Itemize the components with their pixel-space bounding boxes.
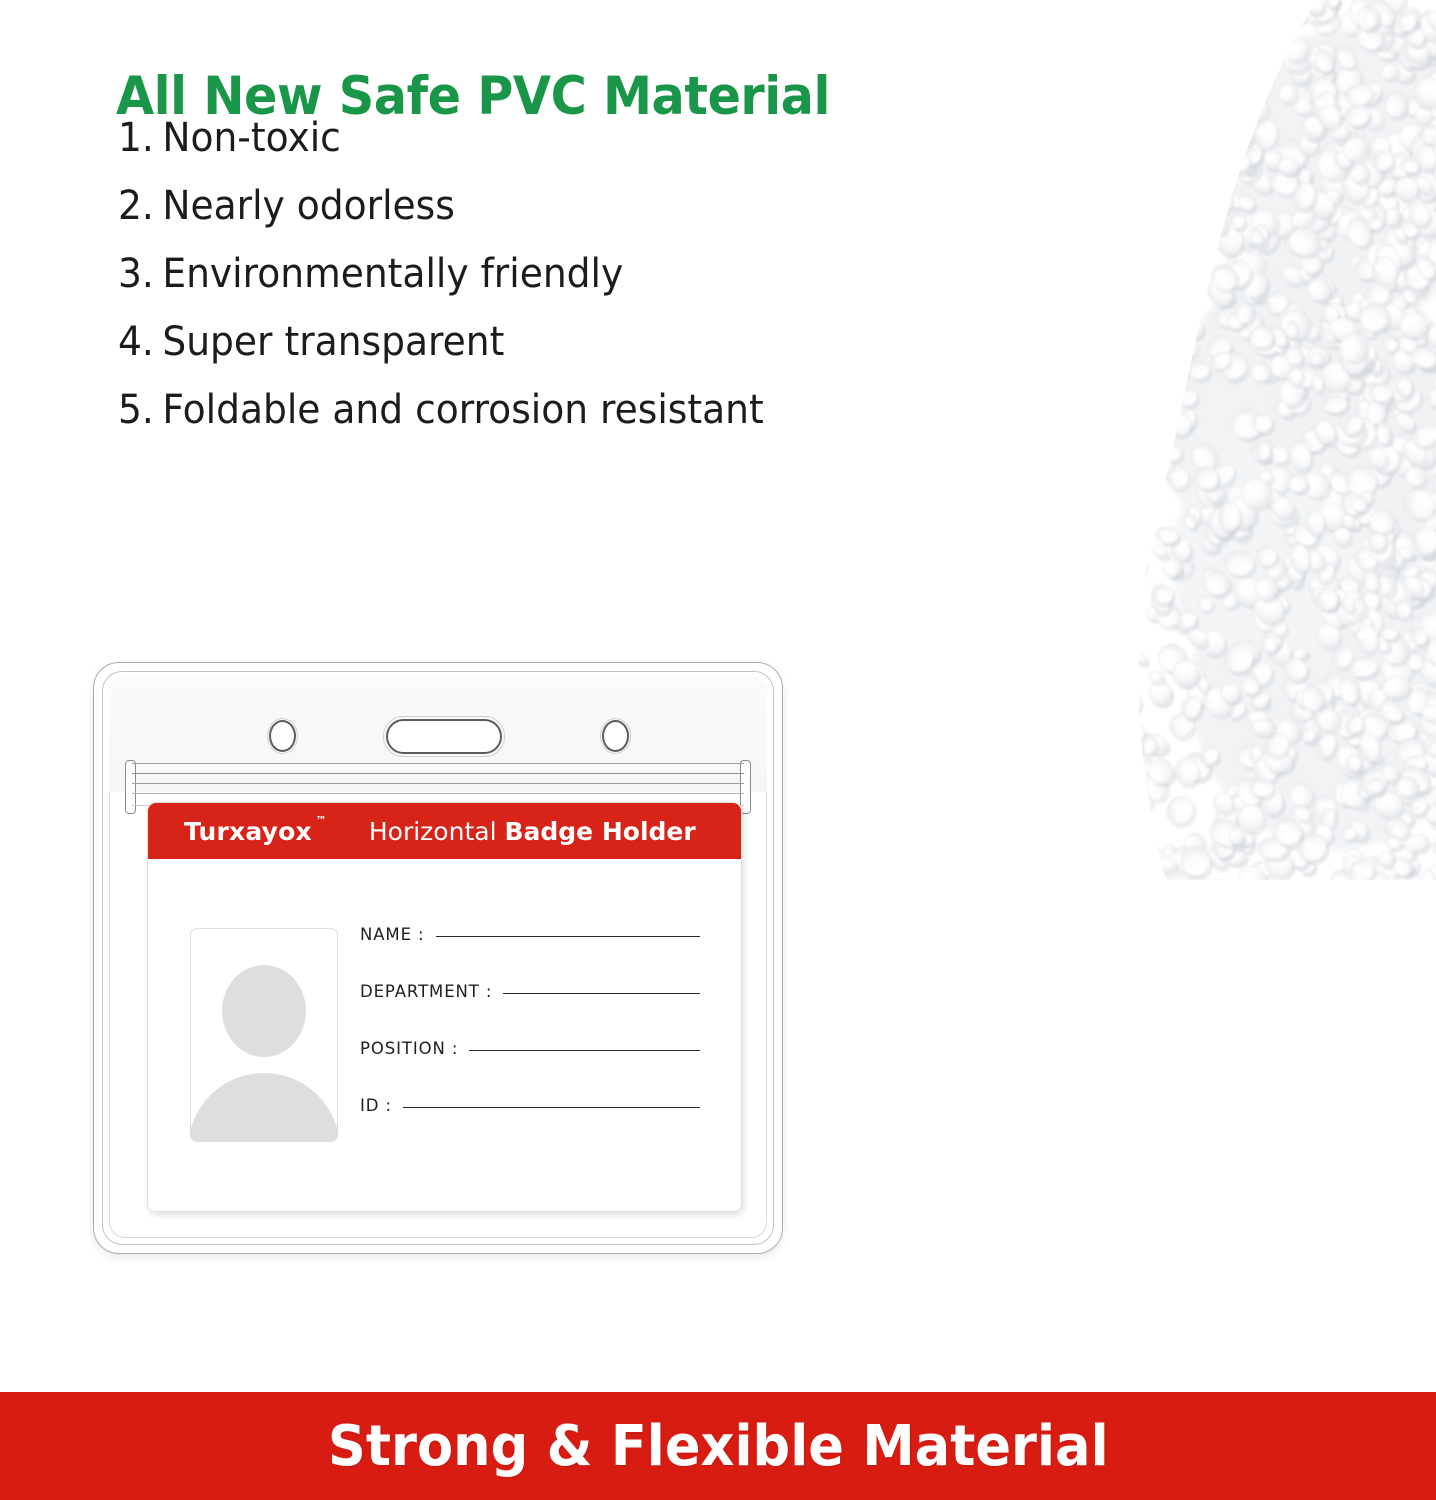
bottom-banner: Strong & Flexible Material xyxy=(0,1392,1436,1500)
field-row-id: ID : xyxy=(360,1096,700,1153)
card-title-regular: Horizontal xyxy=(369,817,497,846)
list-item: 3.Environmentally friendly xyxy=(118,254,889,294)
list-item-number: 4. xyxy=(118,319,154,365)
list-item: 4.Super transparent xyxy=(118,322,889,362)
card-title-bold: Badge Holder xyxy=(504,817,695,846)
field-row-name: NAME : xyxy=(360,925,700,982)
person-avatar-icon xyxy=(222,965,306,1057)
card-title: Horizontal Badge Holder xyxy=(369,817,696,846)
list-item: 2.Nearly odorless xyxy=(118,186,889,226)
photo-placeholder-box xyxy=(190,928,338,1142)
zip-seal-line xyxy=(132,773,744,774)
field-label: NAME : xyxy=(360,925,425,944)
field-write-line xyxy=(403,1107,700,1108)
badge-holder-product-image: Turxayox ™ Horizontal Badge Holder NAME … xyxy=(93,662,783,1254)
field-write-line xyxy=(469,1050,700,1051)
lanyard-slot-icon xyxy=(386,719,502,754)
id-insert-card: Turxayox ™ Horizontal Badge Holder NAME … xyxy=(147,802,742,1212)
list-item-number: 3. xyxy=(118,251,154,297)
pvc-pellets-background xyxy=(1016,0,1436,880)
list-item-label: Nearly odorless xyxy=(162,183,455,229)
person-avatar-body-icon xyxy=(190,1073,338,1142)
list-item: 1.Non-toxic xyxy=(118,118,889,158)
card-form-fields: NAME : DEPARTMENT : POSITION : ID : xyxy=(360,925,700,1153)
field-write-line xyxy=(503,993,700,994)
bottom-banner-text: Strong & Flexible Material xyxy=(328,1414,1109,1479)
list-item-label: Environmentally friendly xyxy=(162,251,623,297)
list-item-number: 5. xyxy=(118,387,154,433)
card-header-band: Turxayox ™ Horizontal Badge Holder xyxy=(148,803,741,859)
field-write-line xyxy=(436,936,701,937)
list-item-number: 1. xyxy=(118,115,154,161)
zip-seal-line xyxy=(132,793,744,794)
list-item-label: Non-toxic xyxy=(162,115,340,161)
field-label: ID : xyxy=(360,1096,392,1115)
list-item: 5.Foldable and corrosion resistant xyxy=(118,390,889,430)
zip-seal-line xyxy=(132,763,744,764)
list-item-number: 2. xyxy=(118,183,154,229)
feature-list: 1.Non-toxic 2.Nearly odorless 3.Environm… xyxy=(118,118,938,458)
field-row-position: POSITION : xyxy=(360,1039,700,1096)
brand-name-label: Turxayox xyxy=(184,817,312,846)
trademark-icon: ™ xyxy=(316,814,327,827)
list-item-label: Super transparent xyxy=(162,319,504,365)
brand-logo-text: Turxayox ™ xyxy=(184,817,312,846)
zip-seal-line xyxy=(132,783,744,784)
punch-hole-icon xyxy=(269,720,296,752)
field-label: POSITION : xyxy=(360,1039,458,1058)
pouch-top-strip xyxy=(109,677,767,792)
field-label: DEPARTMENT : xyxy=(360,982,492,1001)
field-row-department: DEPARTMENT : xyxy=(360,982,700,1039)
list-item-label: Foldable and corrosion resistant xyxy=(162,387,763,433)
punch-hole-icon xyxy=(602,720,629,752)
